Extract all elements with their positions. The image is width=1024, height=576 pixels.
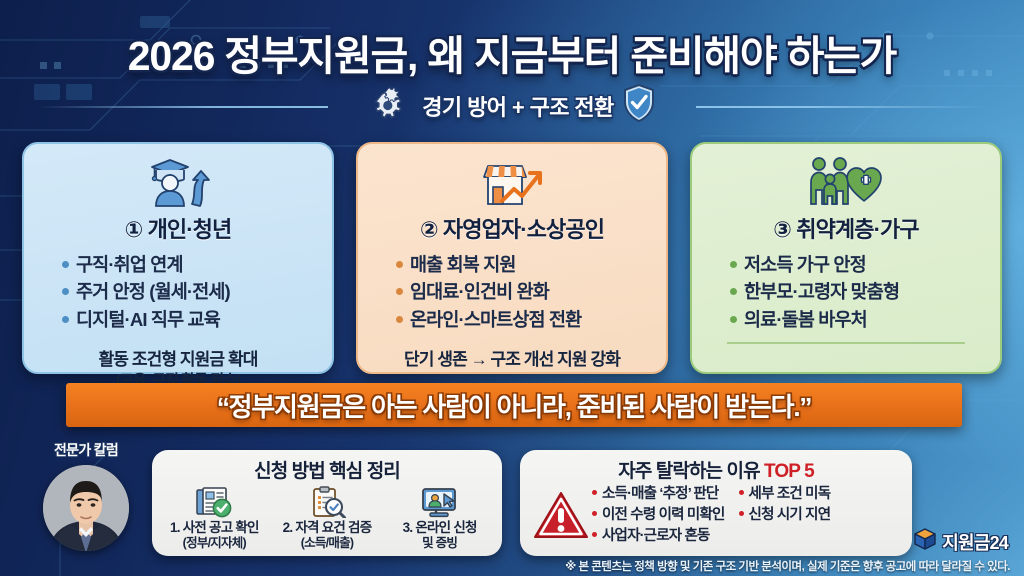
apply-step-sub: (소득/매출) [283, 536, 372, 551]
card-individual-youth[interactable]: ① 개인·청년 구직·취업 연계 주거 안정 (월세·전세) 디지털·AI 직무… [22, 142, 334, 374]
card-vulnerable-households[interactable]: ③ 취약계층·가구 저소득 가구 안정 한부모·고령자 맞춤형 의료·돌봄 바우… [690, 142, 1002, 374]
apply-step-main: 2. 자격 요건 검증 [283, 520, 372, 535]
warning-triangle-icon [530, 490, 592, 540]
document-check-icon [194, 486, 234, 518]
shield-check-icon [623, 84, 655, 127]
reasons-body: 소득·매출 ‘추정’ 판단 이전 수령 이력 미확인 사업자·근로자 혼동 세부… [520, 484, 912, 547]
list-item: 의료·돌봄 바우처 [730, 306, 988, 333]
list-item: 이전 수령 이력 미확인 [592, 505, 725, 526]
bullet-dot [730, 288, 737, 295]
list-item: 디지털·AI 직무 교육 [62, 306, 320, 333]
reasons-title-main: 자주 탈락하는 이유 [618, 461, 764, 482]
list-item: 사업자·근로자 혼동 [592, 526, 725, 547]
bullet-dot [730, 316, 737, 323]
list-item-label: 온라인·스마트상점 전환 [410, 306, 581, 333]
badge-label: 경기 방어 + 구조 전환 [422, 90, 613, 122]
apply-panel-title: 신청 방법 핵심 정리 [152, 456, 502, 483]
apply-step-sub: (정부/지자체) [170, 536, 259, 551]
online-apply-icon [420, 486, 460, 518]
apply-step-3[interactable]: 3. 온라인 신청 및 증빙 [384, 486, 496, 551]
list-item-label: 주거 안정 (월세·전세) [76, 278, 230, 305]
jiwongeum-box-icon [913, 527, 937, 556]
apply-step-main: 1. 사전 공고 확인 [170, 520, 259, 535]
list-item: 주거 안정 (월세·전세) [62, 278, 320, 305]
bullet-dot [396, 316, 403, 323]
apply-step-label: 1. 사전 공고 확인 (정부/지자체) [170, 520, 259, 551]
list-item: 소득·매출 ‘추정’ 판단 [592, 484, 725, 505]
reason-label: 이전 수령 이력 미확인 [602, 505, 725, 526]
bullet-dot [592, 490, 597, 495]
list-item: 구직·취업 연계 [62, 251, 320, 278]
list-item: 세부 조건 미독 [739, 484, 831, 505]
list-item: 저소득 가구 안정 [730, 251, 988, 278]
bullet-dot [592, 511, 597, 516]
page-title: 2026 정부지원금, 왜 지금부터 준비해야 하는가 [128, 22, 896, 82]
expert-column: 전문가 칼럼 [26, 440, 146, 551]
reasons-column-right: 세부 조건 미독 신청 시기 지연 [739, 484, 831, 547]
bullet-dot [62, 288, 69, 295]
card-title: ② 자영업자·소상공인 [420, 212, 604, 244]
reason-label: 소득·매출 ‘추정’ 판단 [602, 484, 718, 505]
list-item: 신청 시기 지연 [739, 505, 831, 526]
apply-step-sub: 및 증빙 [403, 536, 477, 551]
card-footer: 단기 생존 → 구조 개선 지원 강화 [404, 349, 620, 371]
bullet-dot [396, 261, 403, 268]
subtitle-badge: 경기 방어 + 구조 전환 [0, 84, 1024, 127]
list-item-label: 의료·돌봄 바우처 [744, 306, 867, 333]
bullet-dot [62, 261, 69, 268]
list-item-label: 매출 회복 지원 [410, 251, 516, 278]
card-footer-main: 단기 생존 → 구조 개선 지원 강화 [404, 350, 620, 369]
graduate-arrow-icon [142, 154, 214, 210]
quote-text: “정부지원금은 아는 사람이 아니라, 준비된 사람이 받는다.” [217, 387, 811, 424]
brand-logo[interactable]: 지원금24 [913, 527, 1008, 556]
card-divider [727, 342, 966, 344]
rejection-reasons-panel: 자주 탈락하는 이유 TOP 5 소득·매출 ‘추정’ 판단 이전 수령 이력 … [520, 450, 912, 556]
expert-column-label: 전문가 칼럼 [54, 440, 118, 460]
apply-step-main: 3. 온라인 신청 [403, 520, 477, 535]
apply-step-1[interactable]: 1. 사전 공고 확인 (정부/지자체) [158, 486, 270, 551]
family-heart-icon [806, 154, 886, 210]
category-cards: ① 개인·청년 구직·취업 연계 주거 안정 (월세·전세) 디지털·AI 직무… [0, 142, 1024, 374]
gears-icon [369, 85, 413, 126]
reason-label: 사업자·근로자 혼동 [602, 526, 710, 547]
storefront-growth-icon [476, 154, 548, 210]
apply-step-2[interactable]: 2. 자격 요건 검증 (소득/매출) [271, 486, 383, 551]
card-bullet-list: 저소득 가구 안정 한부모·고령자 맞춤형 의료·돌봄 바우처 [704, 251, 988, 333]
card-footer-main: 활동 조건형 지원금 확대 [99, 350, 258, 369]
apply-step-label: 3. 온라인 신청 및 증빙 [403, 520, 477, 551]
list-item-label: 임대료·인건비 완화 [410, 278, 549, 305]
list-item: 한부모·고령자 맞춤형 [730, 278, 988, 305]
card-selfemployed-smallbiz[interactable]: ② 자영업자·소상공인 매출 회복 지원 임대료·인건비 완화 온라인·스마트상… [356, 142, 668, 374]
list-item-label: 디지털·AI 직무 교육 [76, 306, 220, 333]
reasons-title-top5: TOP 5 [764, 461, 814, 482]
bullet-dot [592, 532, 597, 537]
card-title: ③ 취약계층·가구 [773, 212, 918, 244]
infographic-canvas: 2026 정부지원금, 왜 지금부터 준비해야 하는가 경기 방어 + 구조 전… [0, 0, 1024, 576]
avatar [43, 465, 129, 551]
bullet-dot [739, 511, 744, 516]
list-item: 온라인·스마트상점 전환 [396, 306, 654, 333]
reasons-columns: 소득·매출 ‘추정’ 판단 이전 수령 이력 미확인 사업자·근로자 혼동 세부… [592, 484, 902, 547]
bullet-dot [730, 261, 737, 268]
list-item: 매출 회복 지원 [396, 251, 654, 278]
reason-label: 신청 시기 지연 [749, 505, 831, 526]
card-bullet-list: 구직·취업 연계 주거 안정 (월세·전세) 디지털·AI 직무 교육 [36, 251, 320, 333]
reasons-panel-title: 자주 탈락하는 이유 TOP 5 [520, 456, 912, 483]
title-block: 2026 정부지원금, 왜 지금부터 준비해야 하는가 [0, 22, 1024, 82]
brand-logo-text: 지원금24 [942, 529, 1008, 555]
list-item-label: 저소득 가구 안정 [744, 251, 866, 278]
list-item-label: 한부모·고령자 맞춤형 [744, 278, 899, 305]
bullet-dot [396, 288, 403, 295]
list-item: 임대료·인건비 완화 [396, 278, 654, 305]
card-title: ① 개인·청년 [125, 212, 232, 244]
list-item-label: 구직·취업 연계 [76, 251, 183, 278]
disclaimer-text: ※ 본 콘텐츠는 정책 방향 및 기존 구조 기반 분석이며, 실제 기준은 향… [565, 558, 1010, 574]
bullet-dot [62, 316, 69, 323]
quote-banner: “정부지원금은 아는 사람이 아니라, 준비된 사람이 받는다.” [66, 383, 962, 427]
apply-step-label: 2. 자격 요건 검증 (소득/매출) [283, 520, 372, 551]
reason-label: 세부 조건 미독 [749, 484, 831, 505]
card-bullet-list: 매출 회복 지원 임대료·인건비 완화 온라인·스마트상점 전환 [370, 251, 654, 333]
bullet-dot [739, 490, 744, 495]
apply-method-panel: 신청 방법 핵심 정리 [152, 450, 502, 556]
clipboard-search-icon [307, 486, 347, 518]
apply-steps: 1. 사전 공고 확인 (정부/지자체) [152, 486, 502, 551]
reasons-column-left: 소득·매출 ‘추정’ 판단 이전 수령 이력 미확인 사업자·근로자 혼동 [592, 484, 725, 547]
